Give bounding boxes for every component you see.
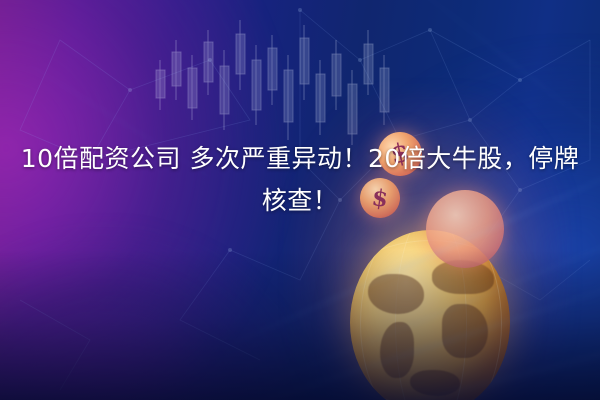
headline-text: 10倍配资公司 多次严重异动！20倍大牛股，停牌核查！ [0,138,600,222]
bottom-vignette [0,250,600,400]
stock-news-banner: $ $ 10倍配资公司 多次严重异动！20倍大牛股，停牌核查！ [0,0,600,400]
